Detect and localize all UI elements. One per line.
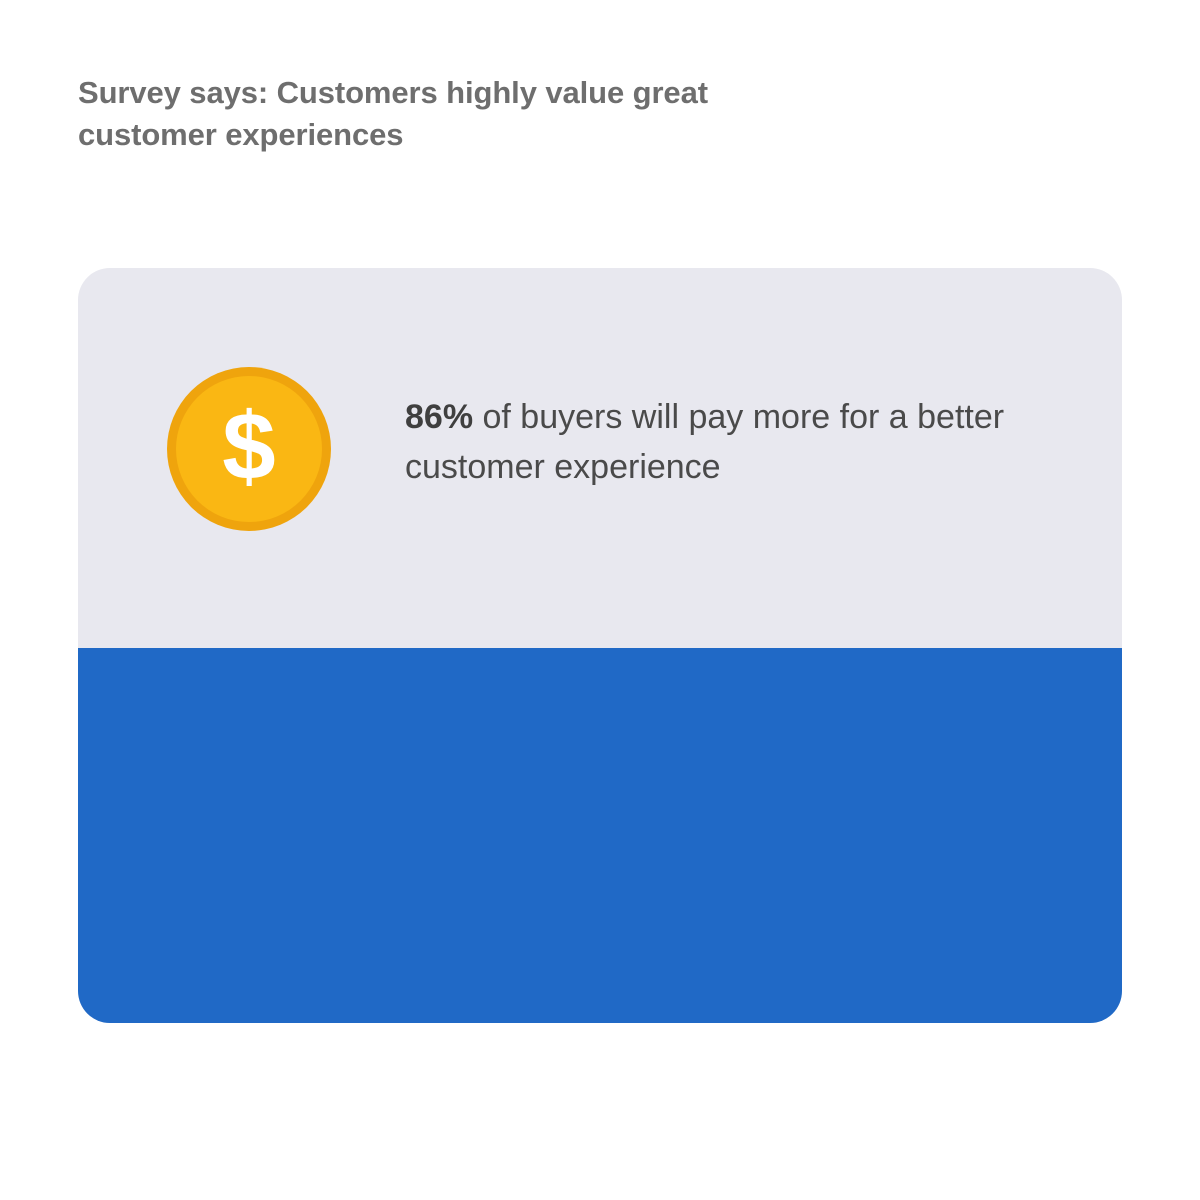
page-title: Survey says: Customers highly value grea… — [78, 72, 938, 156]
blue-prediction-panel: By 2020, customer experience will overta… — [78, 648, 1122, 1023]
coin-dollar-icon: $ — [167, 367, 331, 531]
stat-description: of buyers will pay more for a better cus… — [405, 398, 1004, 486]
stats-card: $ 86% of buyers will pay more for a bett… — [78, 268, 1122, 1023]
buyer-stat-text: 86% of buyers will pay more for a better… — [405, 392, 1045, 492]
dollar-sign-glyph: $ — [167, 367, 331, 531]
infographic-canvas: Survey says: Customers highly value grea… — [0, 0, 1200, 1200]
stat-value: 86% — [405, 398, 473, 436]
light-stat-panel: $ 86% of buyers will pay more for a bett… — [78, 268, 1122, 648]
